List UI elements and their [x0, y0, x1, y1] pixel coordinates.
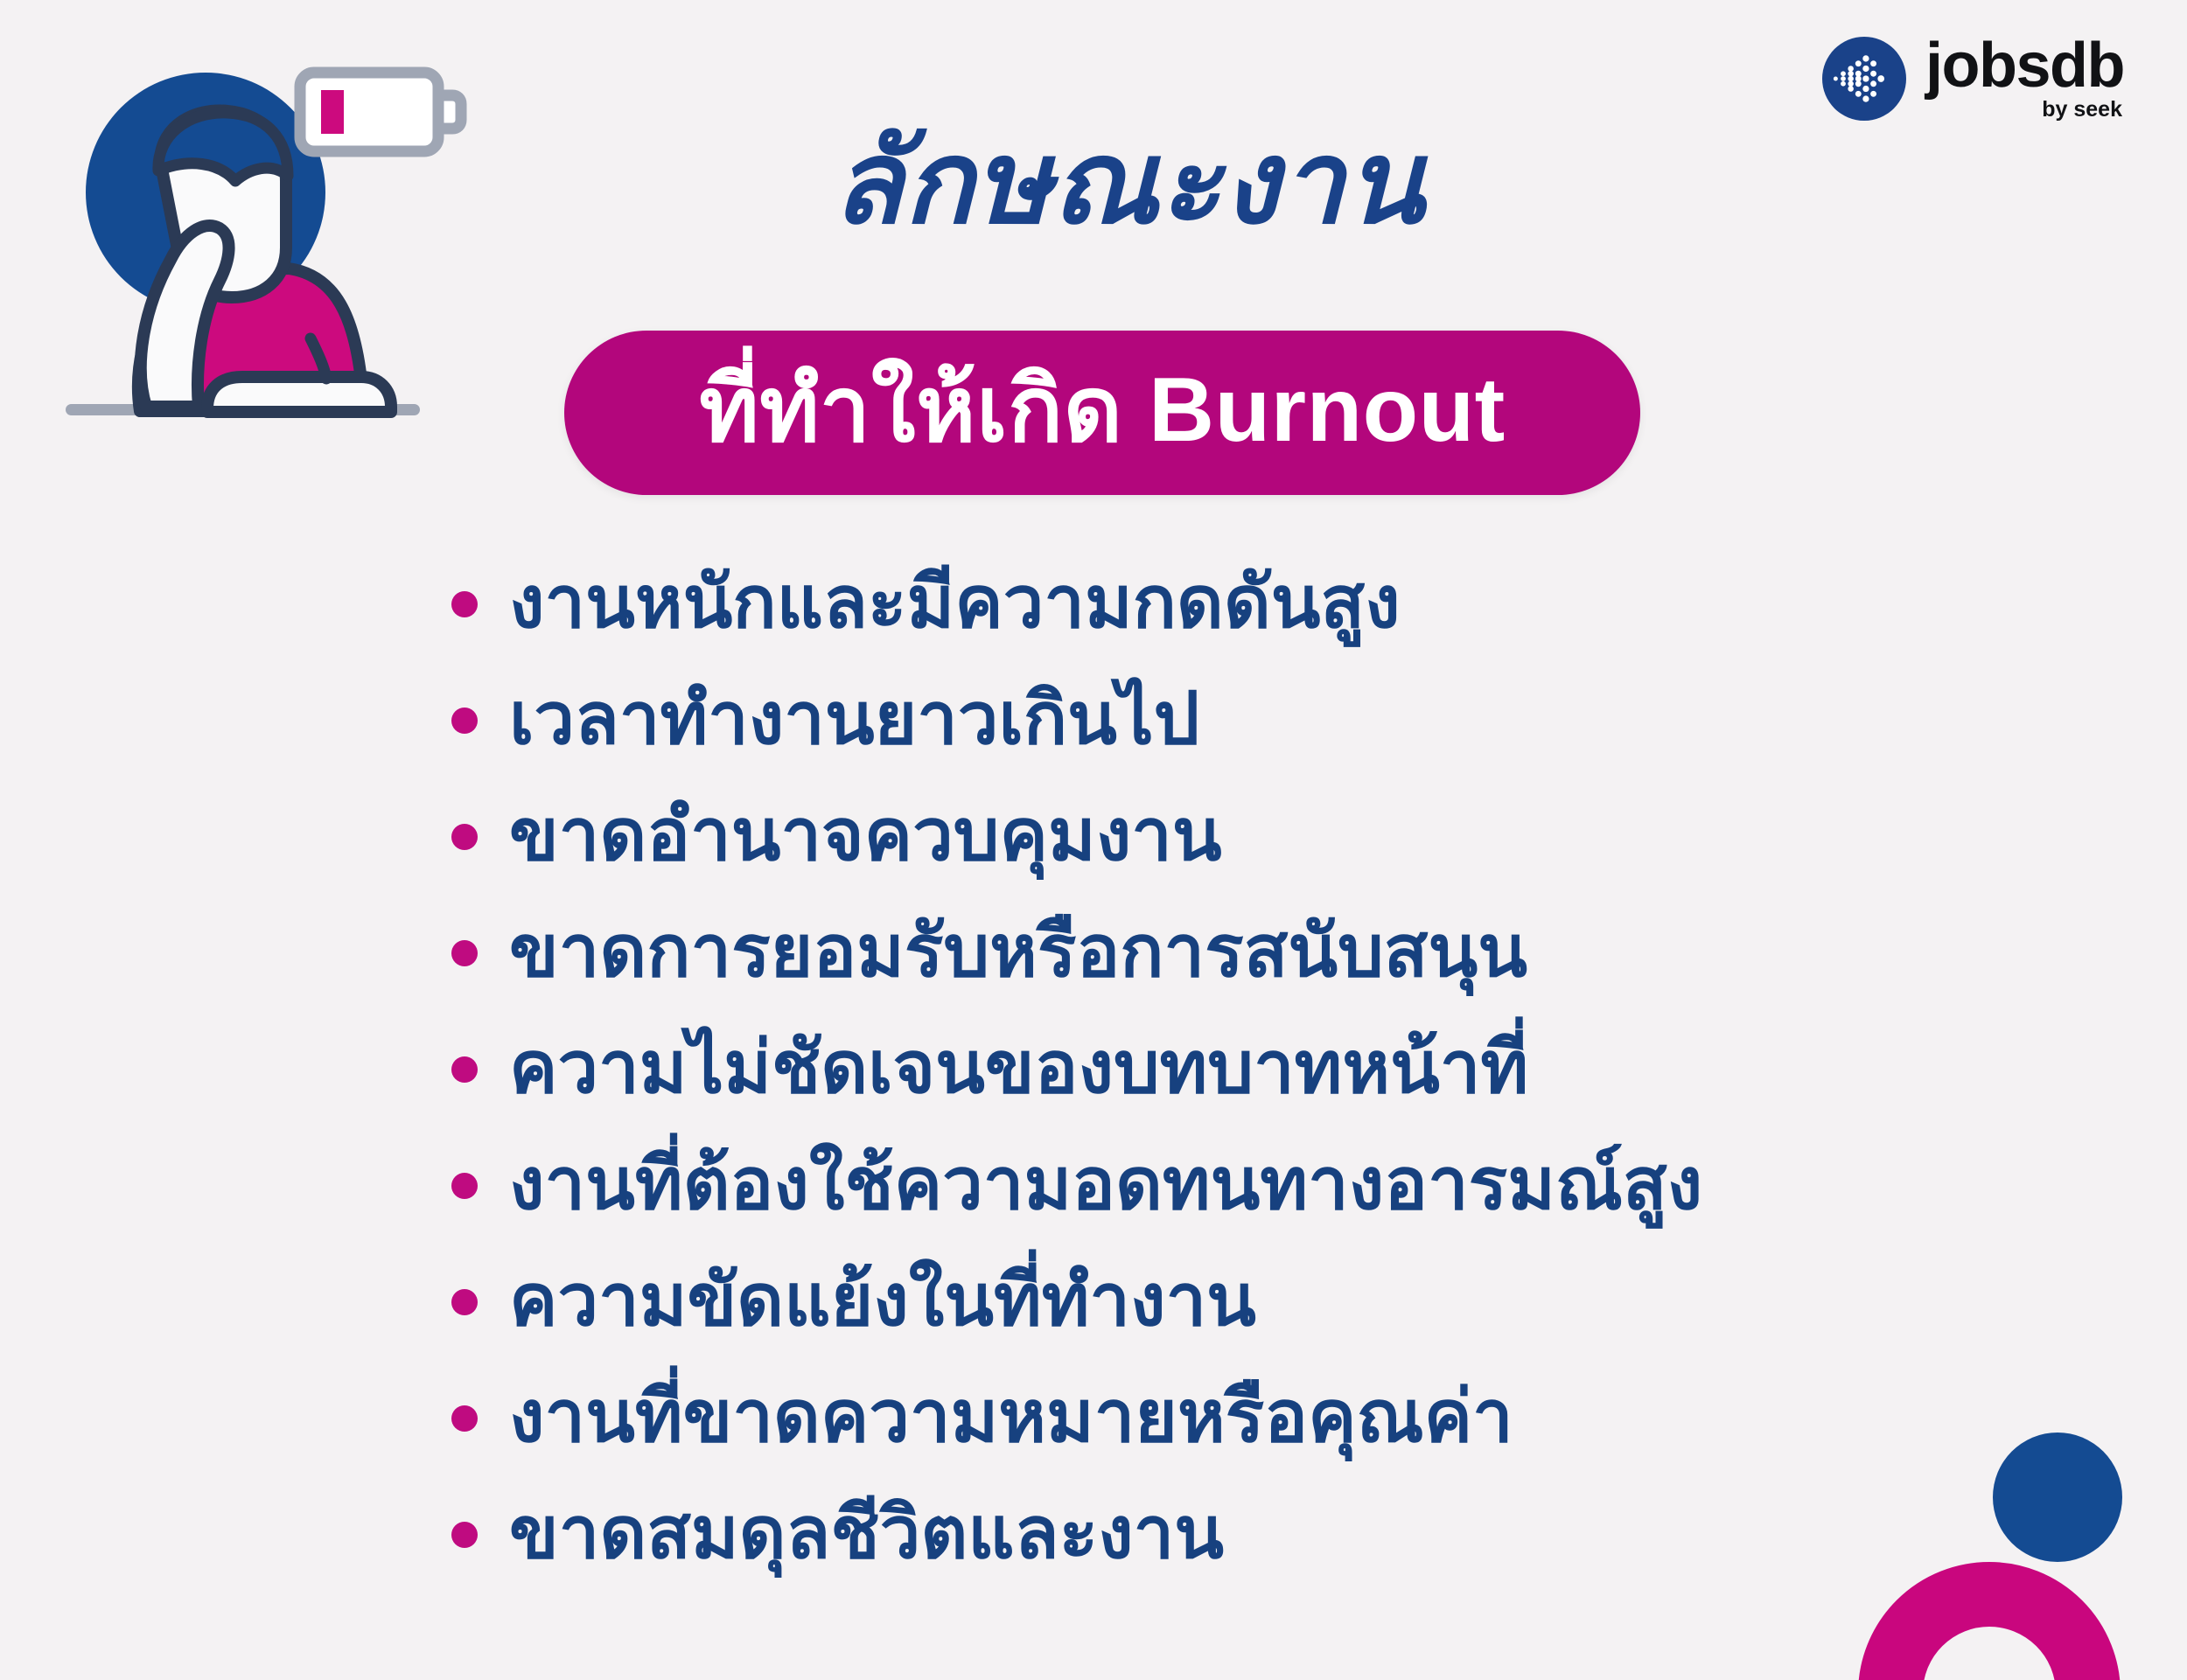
list-item-label: งานที่ต้องใช้ความอดทนทางอารมณ์สูง [509, 1145, 1702, 1223]
decorative-navy-circle [1993, 1433, 2122, 1562]
bullet-dot-icon [451, 708, 478, 734]
list-item: ขาดอำนาจควบคุมงาน [451, 777, 2114, 893]
logo-tagline: by seek [2042, 99, 2122, 121]
bullet-dot-icon [451, 824, 478, 850]
list-item-label: ขาดอำนาจควบคุมงาน [509, 796, 1222, 875]
battery-level-bar [321, 90, 344, 134]
list-item-label: ขาดการยอมรับหรือการสนับสนุน [509, 912, 1527, 991]
bullet-dot-icon [451, 1056, 478, 1083]
list-item: งานที่ขาดความหมายหรือคุณค่า [451, 1358, 2114, 1474]
list-item: ความไม่ชัดเจนของบทบาทหน้าที่ [451, 1009, 2114, 1126]
resting-forearm [207, 377, 391, 412]
jobsdb-logo[interactable]: jobsdb by seek [1822, 37, 2124, 121]
list-item-label: งานที่ขาดความหมายหรือคุณค่า [509, 1377, 1513, 1456]
list-item: งานหนักและมีความกดดันสูง [451, 544, 2114, 660]
burnout-badge: ที่ทำให้เกิด Burnout [564, 331, 1640, 495]
list-item: งานที่ต้องใช้ความอดทนทางอารมณ์สูง [451, 1126, 2114, 1242]
list-item: เวลาทำงานยาวเกินไป [451, 660, 2114, 777]
bullet-dot-icon [451, 1289, 478, 1315]
bullet-dot-icon [451, 1405, 478, 1432]
list-item-label: ความขัดแย้งในที่ทำงาน [509, 1261, 1256, 1340]
headline-block: ลักษณะงาน [560, 122, 1697, 244]
low-battery-icon [300, 73, 461, 151]
infographic-poster: jobsdb by seek ลักษณะงาน ที่ทำให้เกิด Bu… [0, 0, 2187, 1680]
burnout-cause-list: งานหนักและมีความกดดันสูง เวลาทำงานยาวเกิ… [451, 544, 2114, 1591]
list-item-label: ความไม่ชัดเจนของบทบาทหน้าที่ [509, 1028, 1528, 1107]
logo-wordmark: jobsdb [1925, 37, 2124, 94]
bullet-dot-icon [451, 940, 478, 966]
list-item: ความขัดแย้งในที่ทำงาน [451, 1242, 2114, 1358]
list-item-label: งานหนักและมีความกดดันสูง [509, 563, 1401, 642]
jobsdb-arrow-icon [1822, 37, 1906, 121]
list-item: ขาดการยอมรับหรือการสนับสนุน [451, 893, 2114, 1009]
bullet-dot-icon [451, 1522, 478, 1548]
list-item-label: เวลาทำงานยาวเกินไป [509, 680, 1199, 758]
burnout-illustration [48, 31, 477, 442]
list-item-label: ขาดสมดุลชีวิตและงาน [509, 1494, 1224, 1572]
page-title: ลักษณะงาน [560, 122, 1697, 244]
bullet-dot-icon [451, 1173, 478, 1199]
badge-label: ที่ทำให้เกิด Burnout [699, 365, 1506, 461]
bullet-dot-icon [451, 591, 478, 617]
list-item: ขาดสมดุลชีวิตและงาน [451, 1474, 2114, 1591]
